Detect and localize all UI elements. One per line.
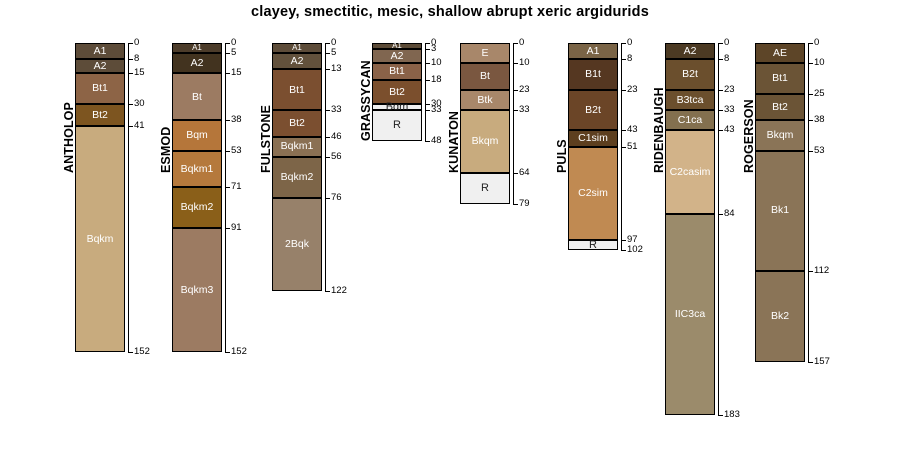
horizon-block: C1ca <box>665 110 715 130</box>
profile-name-label: ESMOD <box>159 127 173 173</box>
profile-name-label: ANTHOLOP <box>62 102 76 173</box>
axis-tick-label: 0 <box>331 38 336 48</box>
axis-tick <box>808 43 813 44</box>
axis-tick-label: 0 <box>134 38 139 48</box>
axis-tick-label: 46 <box>331 132 342 142</box>
axis-tick-label: 157 <box>814 357 830 367</box>
horizon-block: A1 <box>75 43 125 59</box>
axis-tick <box>325 137 330 138</box>
depth-axis <box>513 43 514 204</box>
axis-tick-label: 10 <box>431 58 442 68</box>
horizon-label: Bkqm <box>767 130 794 141</box>
horizon-block: R <box>372 110 422 140</box>
horizon-label: A2 <box>684 46 697 57</box>
horizon-label: A1 <box>94 46 107 57</box>
axis-tick <box>621 147 626 148</box>
axis-tick <box>808 63 813 64</box>
horizon-label: B3tca <box>677 95 704 106</box>
horizon-label: A2 <box>291 56 304 67</box>
axis-tick-label: 56 <box>331 152 342 162</box>
horizon-block: 2Bqk <box>272 198 322 292</box>
axis-tick <box>513 43 518 44</box>
horizon-label: R <box>393 120 401 131</box>
axis-tick-label: 71 <box>231 182 242 192</box>
horizon-label: 2Bqk <box>285 239 309 250</box>
axis-tick <box>225 187 230 188</box>
horizon-block: R <box>568 240 618 250</box>
depth-axis <box>325 43 326 291</box>
axis-tick-label: 91 <box>231 223 242 233</box>
axis-tick-label: 23 <box>724 85 735 95</box>
horizon-label: Bt1 <box>389 66 405 77</box>
axis-tick <box>325 291 330 292</box>
axis-tick <box>808 362 813 363</box>
axis-tick-label: 8 <box>724 54 729 64</box>
horizon-block: Bqkm2 <box>272 157 322 198</box>
axis-tick-label: 112 <box>814 266 829 276</box>
axis-tick <box>425 110 430 111</box>
axis-tick-label: 0 <box>814 38 819 48</box>
horizon-label: Bkqm <box>472 136 499 147</box>
horizon-label: Bqkm <box>87 234 114 245</box>
horizon-block: R <box>460 173 510 203</box>
axis-tick-label: 97 <box>627 235 638 245</box>
horizon-block: C2sim <box>568 147 618 241</box>
depth-axis <box>718 43 719 415</box>
horizon-block: Bt <box>172 73 222 120</box>
axis-tick <box>513 90 518 91</box>
depth-axis <box>128 43 129 352</box>
horizon-block: Bqm <box>172 120 222 150</box>
axis-tick-label: 48 <box>431 136 442 146</box>
horizon-block: A1 <box>172 43 222 53</box>
horizon-label: Bqkm1 <box>181 164 214 175</box>
horizon-block: A2 <box>172 53 222 73</box>
axis-tick <box>808 94 813 95</box>
axis-tick <box>225 228 230 229</box>
axis-tick-label: 30 <box>134 99 145 109</box>
horizon-block: C1sim <box>568 130 618 146</box>
axis-tick <box>808 120 813 121</box>
horizon-label: Bqkm2 <box>281 172 314 183</box>
axis-tick <box>325 198 330 199</box>
profile-name-label: RIDENBAUGH <box>652 87 666 173</box>
horizon-block: Bt1 <box>272 69 322 110</box>
horizon-block: Bt1 <box>75 73 125 103</box>
horizon-block: Bt2 <box>755 94 805 120</box>
axis-tick-label: 183 <box>724 410 740 420</box>
horizon-block: C2casim <box>665 130 715 213</box>
horizon-label: B2t <box>682 69 698 80</box>
axis-tick <box>718 415 723 416</box>
axis-tick <box>225 151 230 152</box>
axis-tick-label: 53 <box>231 146 242 156</box>
horizon-block: Bt2 <box>372 80 422 104</box>
axis-tick-label: 102 <box>627 245 643 255</box>
axis-tick-label: 18 <box>431 75 442 85</box>
axis-tick <box>128 104 133 105</box>
axis-tick <box>128 126 133 127</box>
horizon-label: Bk1 <box>771 205 789 216</box>
horizon-label: A2 <box>191 58 204 69</box>
horizon-block: B3tca <box>665 90 715 110</box>
horizon-block: IIC3ca <box>665 214 715 415</box>
horizon-label: Bt1 <box>772 73 788 84</box>
horizon-label: Bqkm3 <box>181 285 214 296</box>
horizon-label: Bt2 <box>92 110 108 121</box>
axis-tick <box>621 250 626 251</box>
axis-tick-label: 43 <box>724 125 735 135</box>
axis-tick <box>425 141 430 142</box>
axis-tick <box>621 240 626 241</box>
horizon-label: A1 <box>587 46 600 57</box>
axis-tick <box>128 73 133 74</box>
horizon-block: Bt2 <box>75 104 125 126</box>
axis-tick <box>225 73 230 74</box>
profile-name-label: ROGERSON <box>742 99 756 173</box>
horizon-block: Bqkm1 <box>272 137 322 157</box>
axis-tick <box>513 110 518 111</box>
axis-tick <box>225 120 230 121</box>
axis-tick-label: 15 <box>134 68 145 78</box>
horizon-block: Bk1 <box>755 151 805 271</box>
axis-tick <box>225 352 230 353</box>
profile-name-label: FULSTONE <box>259 105 273 173</box>
horizon-block: B2t <box>665 59 715 89</box>
horizon-label: A1 <box>292 44 302 52</box>
horizon-label: A2 <box>391 51 404 62</box>
axis-tick <box>718 43 723 44</box>
horizon-block: Bt1 <box>755 63 805 93</box>
axis-tick-label: 33 <box>331 105 342 115</box>
axis-tick <box>808 151 813 152</box>
horizon-label: IIC3ca <box>675 309 705 320</box>
axis-tick-label: 23 <box>627 85 638 95</box>
axis-tick-label: 3 <box>431 44 436 54</box>
horizon-block: Bqkm1 <box>172 151 222 188</box>
axis-tick <box>621 43 626 44</box>
profile-name-label: KUNATON <box>447 111 461 173</box>
horizon-label: AE <box>773 48 787 59</box>
axis-tick-label: 79 <box>519 199 530 209</box>
axis-tick <box>325 43 330 44</box>
horizon-block: Bt <box>460 63 510 89</box>
horizon-label: Bqm <box>186 130 208 141</box>
horizon-label: Bt1 <box>289 85 305 96</box>
horizon-label: Bt <box>192 92 202 103</box>
profile-name-label: GRASSYCAN <box>359 60 373 141</box>
axis-tick <box>128 352 133 353</box>
axis-tick-label: 0 <box>627 38 632 48</box>
axis-tick-label: 41 <box>134 121 145 131</box>
axis-tick-label: 13 <box>331 64 342 74</box>
horizon-label: Bt2 <box>289 118 305 129</box>
horizon-label: Bt2 <box>389 87 405 98</box>
axis-tick <box>621 59 626 60</box>
axis-tick <box>513 204 518 205</box>
horizon-block: Btk <box>460 90 510 110</box>
horizon-block: AE <box>755 43 805 63</box>
axis-tick <box>325 69 330 70</box>
horizon-block: A1 <box>272 43 322 53</box>
horizon-label: A1 <box>192 44 202 52</box>
horizon-label: Bqkm2 <box>181 202 214 213</box>
axis-tick-label: 0 <box>231 38 236 48</box>
horizon-block: E <box>460 43 510 63</box>
axis-tick-label: 8 <box>627 54 632 64</box>
horizon-block: Bkqm <box>460 110 510 173</box>
axis-tick <box>718 110 723 111</box>
horizon-block: B2t <box>568 90 618 131</box>
horizon-label: R <box>481 183 489 194</box>
axis-tick-label: 33 <box>519 105 530 115</box>
horizon-label: Bk2 <box>771 311 789 322</box>
axis-tick <box>425 104 430 105</box>
axis-tick <box>718 59 723 60</box>
axis-tick-label: 122 <box>331 286 347 296</box>
horizon-label: C1ca <box>678 115 703 126</box>
page-title: clayey, smectitic, mesic, shallow abrupt… <box>0 4 900 20</box>
axis-tick-label: 15 <box>231 68 242 78</box>
axis-tick <box>225 43 230 44</box>
axis-tick-label: 0 <box>519 38 524 48</box>
axis-tick <box>325 110 330 111</box>
axis-tick <box>225 53 230 54</box>
axis-tick-label: 5 <box>331 48 336 58</box>
axis-tick <box>425 43 430 44</box>
axis-tick-label: 5 <box>231 48 236 58</box>
axis-tick-label: 8 <box>134 54 139 64</box>
axis-tick <box>513 173 518 174</box>
axis-tick <box>325 157 330 158</box>
horizon-label: Bt1 <box>92 83 108 94</box>
horizon-label: Btk <box>477 95 492 106</box>
horizon-label: Bt <box>480 71 490 82</box>
axis-tick <box>621 90 626 91</box>
axis-tick-label: 38 <box>814 115 825 125</box>
axis-tick-label: 53 <box>814 146 825 156</box>
axis-tick-label: 33 <box>724 105 735 115</box>
depth-axis <box>225 43 226 352</box>
axis-tick <box>621 130 626 131</box>
depth-axis <box>808 43 809 362</box>
horizon-label: B1t <box>585 69 601 80</box>
horizon-label: Bt2 <box>772 102 788 113</box>
axis-tick <box>425 63 430 64</box>
axis-tick-label: 76 <box>331 193 342 203</box>
horizon-block: A1 <box>568 43 618 59</box>
axis-tick <box>808 271 813 272</box>
horizon-block: A2 <box>75 59 125 73</box>
horizon-block: Bkqm <box>755 120 805 150</box>
horizon-block: A2 <box>272 53 322 69</box>
axis-tick-label: 84 <box>724 209 735 219</box>
axis-tick-label: 23 <box>519 85 530 95</box>
axis-tick <box>718 214 723 215</box>
horizon-block: Bqkm2 <box>172 187 222 228</box>
axis-tick-label: 43 <box>627 125 638 135</box>
axis-tick-label: 10 <box>814 58 825 68</box>
horizon-block: A2 <box>372 49 422 63</box>
axis-tick-label: 10 <box>519 58 530 68</box>
horizon-label: B2t <box>585 105 601 116</box>
axis-tick-label: 152 <box>134 347 150 357</box>
horizon-block: Bt1 <box>372 63 422 79</box>
axis-tick-label: 152 <box>231 347 247 357</box>
horizon-label: R <box>589 240 597 251</box>
axis-tick <box>513 63 518 64</box>
axis-tick <box>325 53 330 54</box>
axis-tick <box>425 49 430 50</box>
horizon-block: Bt2 <box>272 110 322 136</box>
horizon-block: Bk2 <box>755 271 805 362</box>
horizon-block: B1t <box>568 59 618 89</box>
horizon-label: E <box>481 48 488 59</box>
axis-tick-label: 51 <box>627 142 638 152</box>
horizon-label: C2sim <box>578 188 608 199</box>
depth-axis <box>425 43 426 141</box>
axis-tick-label: 0 <box>724 38 729 48</box>
axis-tick-label: 33 <box>431 105 442 115</box>
horizon-label: C2casim <box>670 167 711 178</box>
axis-tick-label: 25 <box>814 89 825 99</box>
axis-tick <box>128 59 133 60</box>
axis-tick <box>718 90 723 91</box>
profile-name-label: PULS <box>555 139 569 173</box>
axis-tick <box>128 43 133 44</box>
horizon-block: A2 <box>665 43 715 59</box>
axis-tick <box>718 130 723 131</box>
axis-tick <box>425 80 430 81</box>
horizon-label: Bqkm1 <box>281 141 314 152</box>
axis-tick-label: 64 <box>519 168 530 178</box>
horizon-label: A2 <box>94 61 107 72</box>
horizon-block: Bqkm <box>75 126 125 352</box>
axis-tick-label: 38 <box>231 115 242 125</box>
horizon-label: C1sim <box>578 133 608 144</box>
horizon-block: Bqkm3 <box>172 228 222 352</box>
